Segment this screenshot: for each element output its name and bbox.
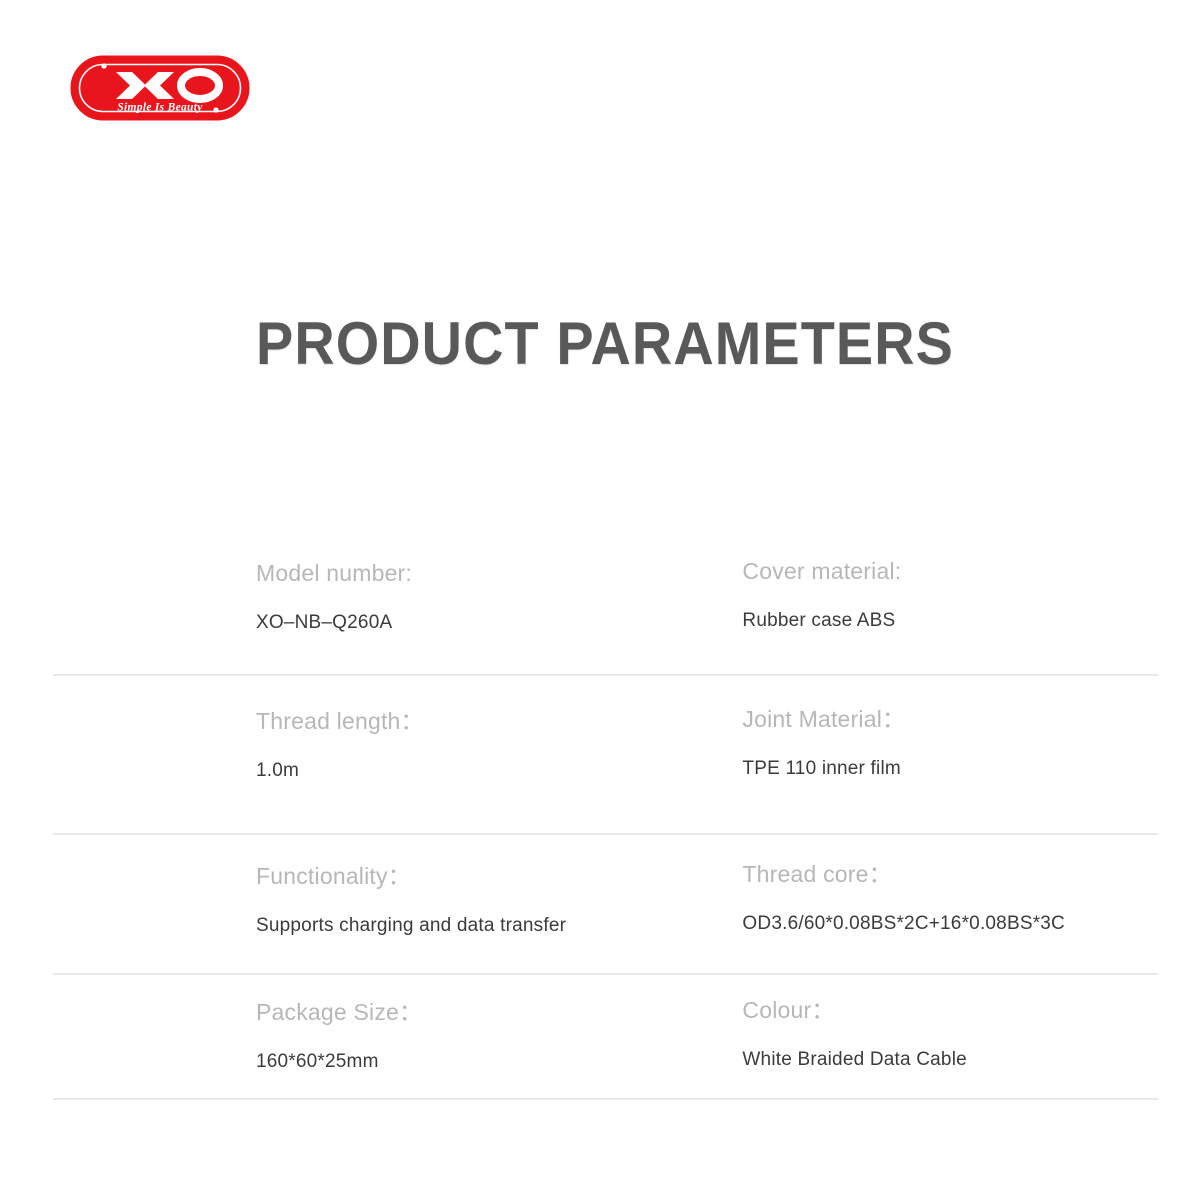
spec-label: Package Size：	[256, 997, 742, 1027]
brand-tagline: Simple Is Beauty	[117, 102, 203, 114]
table-row: Model number: XO–NB–Q260A Cover material…	[0, 540, 1200, 676]
spec-cell-thread-core: Thread core： OD3.6/60*0.08BS*2C+16*0.08B…	[742, 861, 1200, 939]
page-title: PRODUCT PARAMETERS	[256, 306, 954, 382]
row-divider	[53, 1098, 1158, 1100]
spec-value: 1.0m	[256, 758, 742, 784]
spec-cell-cover-material: Cover material: Rubber case ABS	[742, 558, 1200, 636]
spec-label: Thread length：	[256, 706, 742, 736]
spec-value: 160*60*25mm	[256, 1049, 742, 1075]
spec-value: XO–NB–Q260A	[256, 610, 742, 636]
product-parameters-table: Model number: XO–NB–Q260A Cover material…	[0, 540, 1200, 1100]
spec-cell-thread-length: Thread length： 1.0m	[256, 706, 742, 784]
spec-cell-package-size: Package Size： 160*60*25mm	[256, 997, 742, 1075]
spec-value: Rubber case ABS	[742, 608, 1200, 634]
spec-label: Joint Material：	[742, 704, 1200, 734]
spec-cell-joint-material: Joint Material： TPE 110 inner film	[742, 706, 1200, 784]
spec-cell-model-number: Model number: XO–NB–Q260A	[256, 558, 742, 636]
brand-logo: Simple Is Beauty	[70, 55, 250, 121]
spec-value: OD3.6/60*0.08BS*2C+16*0.08BS*3C	[742, 911, 1200, 937]
spec-label: Model number:	[256, 558, 742, 588]
spec-label: Functionality：	[256, 861, 742, 891]
spec-cell-functionality: Functionality： Supports charging and dat…	[256, 861, 742, 939]
table-row: Thread length： 1.0m Joint Material： TPE …	[0, 676, 1200, 835]
spec-label: Thread core：	[742, 859, 1200, 889]
spec-label: Cover material:	[742, 556, 1200, 586]
spec-value: White Braided Data Cable	[742, 1047, 1200, 1073]
xo-logo-icon: Simple Is Beauty	[70, 55, 250, 121]
spec-value: Supports charging and data transfer	[256, 913, 742, 939]
spec-value: TPE 110 inner film	[742, 756, 1200, 782]
table-row: Package Size： 160*60*25mm Colour： White …	[0, 975, 1200, 1100]
table-row: Functionality： Supports charging and dat…	[0, 835, 1200, 975]
spec-cell-colour: Colour： White Braided Data Cable	[742, 997, 1200, 1075]
spec-label: Colour：	[742, 995, 1200, 1025]
